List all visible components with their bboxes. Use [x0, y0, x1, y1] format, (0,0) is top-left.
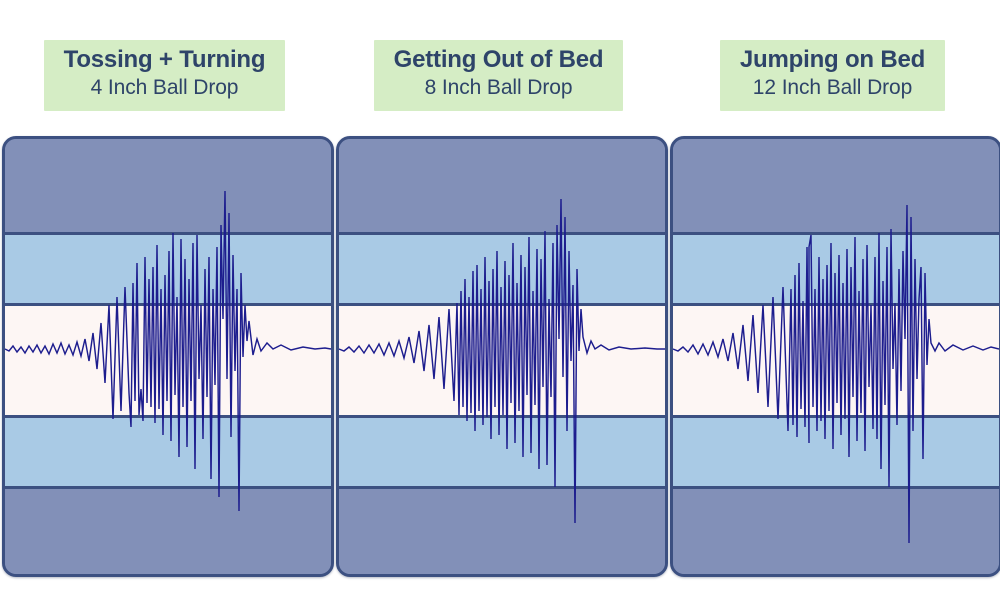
panel-title: Tossing + Turning	[62, 46, 268, 74]
band-mid-lower	[5, 415, 331, 486]
panel-column-tossing-turning: Tossing + Turning 4 Inch Ball Drop	[2, 0, 327, 607]
amplitude-bands	[339, 139, 665, 574]
band-light-center	[339, 303, 665, 415]
band-dark-top	[673, 139, 999, 232]
band-mid-lower	[673, 415, 999, 486]
band-light-center	[673, 303, 999, 415]
panels-board: Tossing + Turning 4 Inch Ball Drop Getti…	[0, 0, 1000, 607]
band-dark-bottom	[5, 486, 331, 574]
panel-subtitle: 4 Inch Ball Drop	[62, 76, 268, 101]
band-dark-top	[339, 139, 665, 232]
panel-subtitle: 8 Inch Ball Drop	[392, 76, 606, 101]
panel-column-jumping-on-bed: Jumping on Bed 12 Inch Ball Drop	[670, 0, 995, 607]
band-mid-upper	[5, 232, 331, 303]
panel-header-jumping-on-bed: Jumping on Bed 12 Inch Ball Drop	[720, 40, 945, 111]
panel-header-getting-out-of-bed: Getting Out of Bed 8 Inch Ball Drop	[374, 40, 624, 111]
panel-column-getting-out-of-bed: Getting Out of Bed 8 Inch Ball Drop	[336, 0, 661, 607]
mattress-panel-tossing-turning	[2, 136, 334, 577]
amplitude-bands	[5, 139, 331, 574]
panel-subtitle: 12 Inch Ball Drop	[738, 76, 927, 101]
band-mid-lower	[339, 415, 665, 486]
amplitude-bands	[673, 139, 999, 574]
mattress-panel-jumping-on-bed	[670, 136, 1000, 577]
band-mid-upper	[339, 232, 665, 303]
panel-title: Getting Out of Bed	[392, 46, 606, 74]
mattress-panel-getting-out-of-bed	[336, 136, 668, 577]
band-light-center	[5, 303, 331, 415]
panel-title: Jumping on Bed	[738, 46, 927, 74]
band-dark-bottom	[339, 486, 665, 574]
band-mid-upper	[673, 232, 999, 303]
band-dark-top	[5, 139, 331, 232]
band-dark-bottom	[673, 486, 999, 574]
panel-header-tossing-turning: Tossing + Turning 4 Inch Ball Drop	[44, 40, 286, 111]
